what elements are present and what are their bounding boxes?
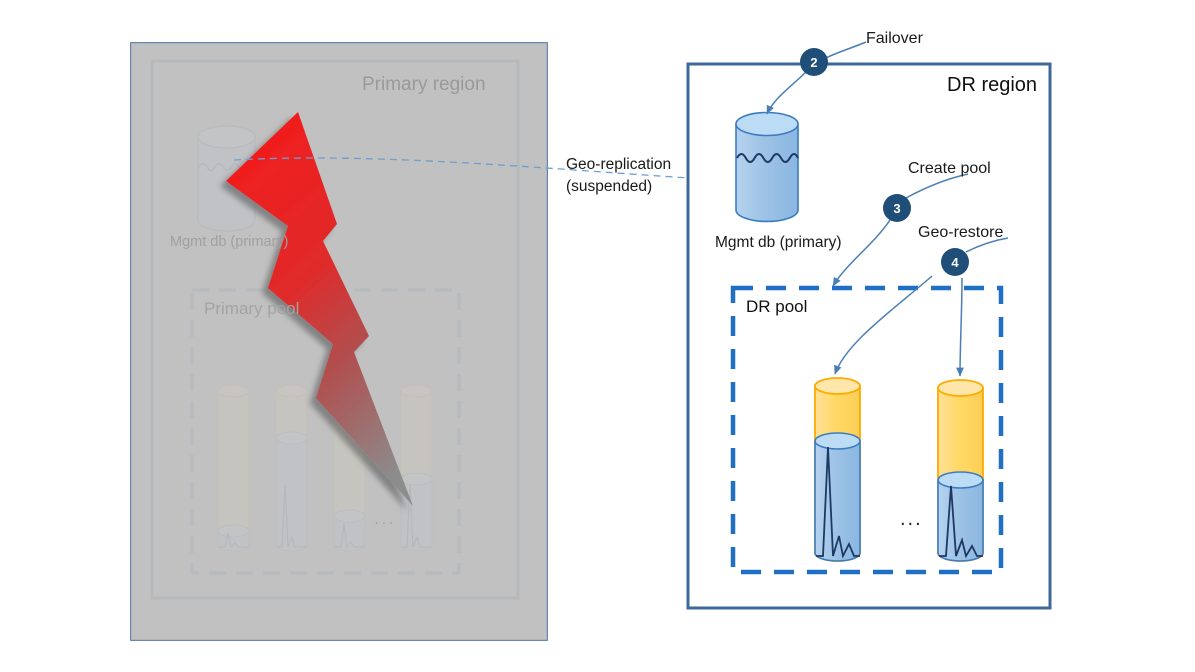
step-badge-2[interactable]: 2 [800,48,828,76]
step-badge-4[interactable]: 4 [941,248,969,276]
create-pool-label: Create pool [908,160,991,178]
dr-region-label: DR region [947,74,1037,97]
dr-pool-label: DR pool [746,297,807,317]
failover-label: Failover [866,30,923,48]
dr-mgmt-db-label: Mgmt db (primary) [715,234,842,252]
geo-restore-label: Geo-restore [918,224,1003,242]
geo-replication-label-line1: Geo-replication [566,156,671,174]
diagram-canvas: Primary region Mgmt db (primary) Primary… [0,0,1195,672]
step-badge-3[interactable]: 3 [883,194,911,222]
geo-replication-label-line2: (suspended) [566,178,652,196]
failover-arrow [822,42,866,60]
dr-db-n [938,380,983,561]
dr-mgmt-db-cylinder [736,113,798,222]
right-panel-graphics [0,0,1195,672]
dr-pool-ellipsis: ... [900,508,923,531]
dr-db-1 [815,378,860,561]
